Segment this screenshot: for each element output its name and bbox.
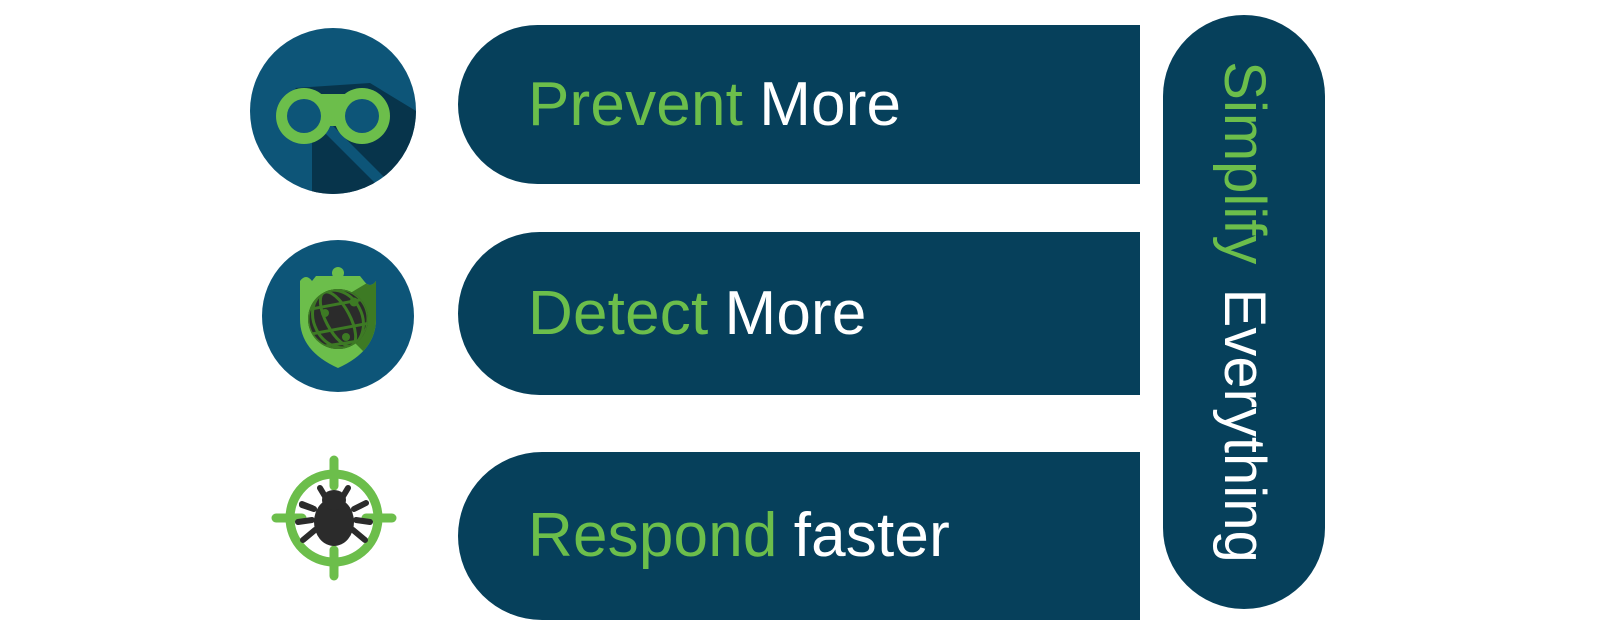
simplify-everything-label: SimplifyEverything <box>1215 61 1273 562</box>
detect-more-bar[interactable]: DetectMore <box>458 232 1140 395</box>
shield-globe-icon <box>262 240 414 392</box>
simplify-accent-word: Simplify <box>1212 61 1277 264</box>
slide-canvas: PreventMore DetectMore Respondfaster Sim… <box>0 0 1600 620</box>
everything-plain-word: Everything <box>1212 289 1277 563</box>
respond-plain-word: faster <box>794 501 950 570</box>
prevent-more-bar[interactable]: PreventMore <box>458 25 1140 184</box>
detect-more-label: DetectMore <box>528 283 867 345</box>
detect-accent-word: Detect <box>528 279 708 348</box>
prevent-accent-word: Prevent <box>528 70 743 139</box>
prevent-more-label: PreventMore <box>528 74 901 136</box>
respond-faster-bar[interactable]: Respondfaster <box>458 452 1140 620</box>
respond-faster-label: Respondfaster <box>528 505 950 567</box>
prevent-plain-word: More <box>759 70 901 139</box>
respond-accent-word: Respond <box>528 501 778 570</box>
bug-crosshair-icon <box>268 452 400 584</box>
binoculars-icon <box>250 28 416 194</box>
simplify-everything-pill[interactable]: SimplifyEverything <box>1163 15 1325 609</box>
detect-plain-word: More <box>725 279 867 348</box>
